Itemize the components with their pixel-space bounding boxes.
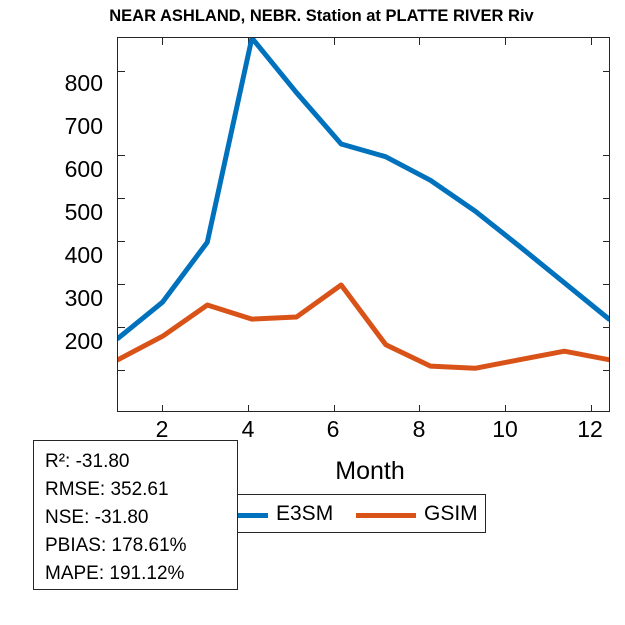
y-tick-label-200: 200 bbox=[33, 330, 103, 353]
x-tick-label-8: 8 bbox=[389, 418, 449, 441]
line-series-gsim bbox=[118, 285, 609, 368]
x-tick-label-12: 12 bbox=[560, 418, 620, 441]
chart-title: NEAR ASHLAND, NEBR. Station at PLATTE RI… bbox=[0, 5, 625, 27]
stat-rmse: RMSE: 352.61 bbox=[45, 476, 237, 504]
x-tick-label-4: 4 bbox=[218, 418, 278, 441]
y-tick-label-400: 400 bbox=[33, 244, 103, 267]
line-series-e3sm bbox=[118, 38, 609, 338]
y-tick-label-600: 600 bbox=[33, 158, 103, 181]
legend-label-e3sm: E3SM bbox=[276, 502, 333, 526]
x-tick-label-10: 10 bbox=[475, 418, 535, 441]
legend-label-gsim: GSIM bbox=[424, 502, 478, 526]
x-tick-label-6: 6 bbox=[303, 418, 363, 441]
y-axis-label: Discharge (m3/s) bbox=[0, 0, 30, 64]
y-tick-label-500: 500 bbox=[33, 201, 103, 224]
figure-canvas: NEAR ASHLAND, NEBR. Station at PLATTE RI… bbox=[0, 0, 625, 625]
x-axis-label: Month bbox=[230, 455, 510, 487]
statistics-box: R²: -31.80 RMSE: 352.61 NSE: -31.80 PBIA… bbox=[33, 440, 238, 590]
series-plot bbox=[118, 38, 609, 411]
stat-pbias: PBIAS: 178.61% bbox=[45, 532, 237, 560]
y-tick-label-300: 300 bbox=[33, 287, 103, 310]
stat-nse: NSE: -31.80 bbox=[45, 504, 237, 532]
y-tick-label-700: 700 bbox=[33, 115, 103, 138]
stat-r2: R²: -31.80 bbox=[45, 448, 237, 476]
plot-area bbox=[117, 37, 610, 412]
stat-mape: MAPE: 191.12% bbox=[45, 560, 237, 588]
chart-legend[interactable]: E3SM GSIM bbox=[229, 494, 486, 533]
x-tick-label-2: 2 bbox=[132, 418, 192, 441]
y-tick-label-800: 800 bbox=[33, 72, 103, 95]
legend-swatch-e3sm bbox=[237, 513, 268, 518]
legend-swatch-gsim bbox=[356, 513, 416, 518]
